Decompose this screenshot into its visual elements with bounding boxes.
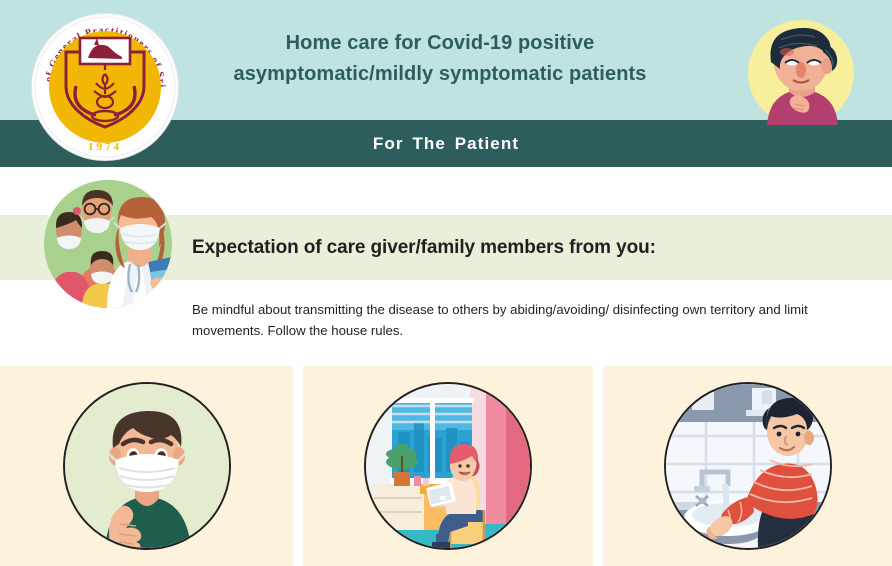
card-wash-hands-circle [664,382,832,550]
college-logo: College of General Practitioners of Sri … [32,14,178,160]
card-stay-home [303,366,593,566]
logo-year: 1974 [32,141,178,153]
logo-shield-icon [60,34,150,130]
section-body-text: Be mindful about transmitting the diseas… [192,299,852,342]
illustration-cards [0,366,892,566]
card-wear-mask-circle [63,382,231,550]
woman-reading-at-home-icon [366,384,530,548]
page-title-line-2: asymptomatic/mildly symptomatic patients [170,59,710,90]
section-heading: Expectation of care giver/family members… [192,215,656,280]
page-title: Home care for Covid-19 positive asymptom… [170,28,710,90]
page-title-line-1: Home care for Covid-19 positive [170,28,710,59]
sick-patient-icon [737,18,865,125]
family-with-doctor-illustration [44,180,172,308]
card-stay-home-circle [364,382,532,550]
sick-patient-illustration [737,18,865,125]
card-wash-hands [603,366,892,566]
card-wear-mask [0,366,293,566]
family-with-doctor-icon [44,180,172,308]
masked-man-thumbs-up-icon [65,384,229,548]
man-washing-hands-icon [666,384,830,548]
infographic-page: Home care for Covid-19 positive asymptom… [0,0,892,566]
